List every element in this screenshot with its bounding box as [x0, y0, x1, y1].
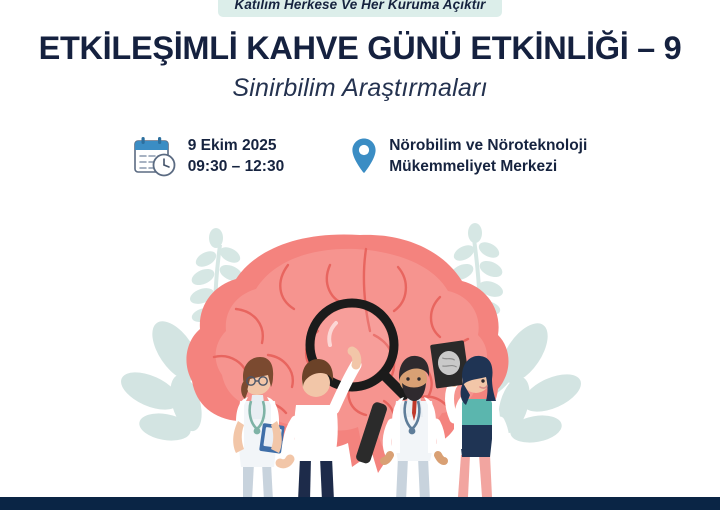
page-subtitle: Sinirbilim Araştırmaları [0, 74, 720, 103]
bottom-accent-bar [0, 497, 720, 510]
location-text: Nörobilim ve Nöroteknoloji Mükemmeliyet … [389, 136, 587, 177]
event-poster: Katılım Herkese Ve Her Kuruma Açıktır ET… [0, 0, 720, 510]
event-date: 9 Ekim 2025 [188, 137, 277, 154]
badge-container: Katılım Herkese Ve Her Kuruma Açıktır [0, 0, 720, 17]
location-line-1: Nörobilim ve Nöroteknoloji [389, 137, 587, 154]
participation-badge: Katılım Herkese Ve Her Kuruma Açıktır [218, 0, 501, 17]
event-time: 09:30 – 12:30 [188, 157, 285, 178]
event-details-row: 9 Ekim 2025 09:30 – 12:30 Nörobilim ve N… [0, 136, 720, 178]
location-line-2: Mükemmeliyet Merkezi [389, 157, 587, 178]
date-time-block: 9 Ekim 2025 09:30 – 12:30 [133, 136, 285, 178]
brain-research-illustration [0, 205, 720, 505]
date-time-text: 9 Ekim 2025 09:30 – 12:30 [188, 136, 285, 177]
location-block: Nörobilim ve Nöroteknoloji Mükemmeliyet … [350, 136, 587, 177]
calendar-clock-icon [133, 136, 177, 178]
map-pin-icon [350, 137, 378, 177]
page-title: ETKİLEŞİMLİ KAHVE GÜNÜ ETKİNLİĞİ – 9 [0, 30, 720, 67]
